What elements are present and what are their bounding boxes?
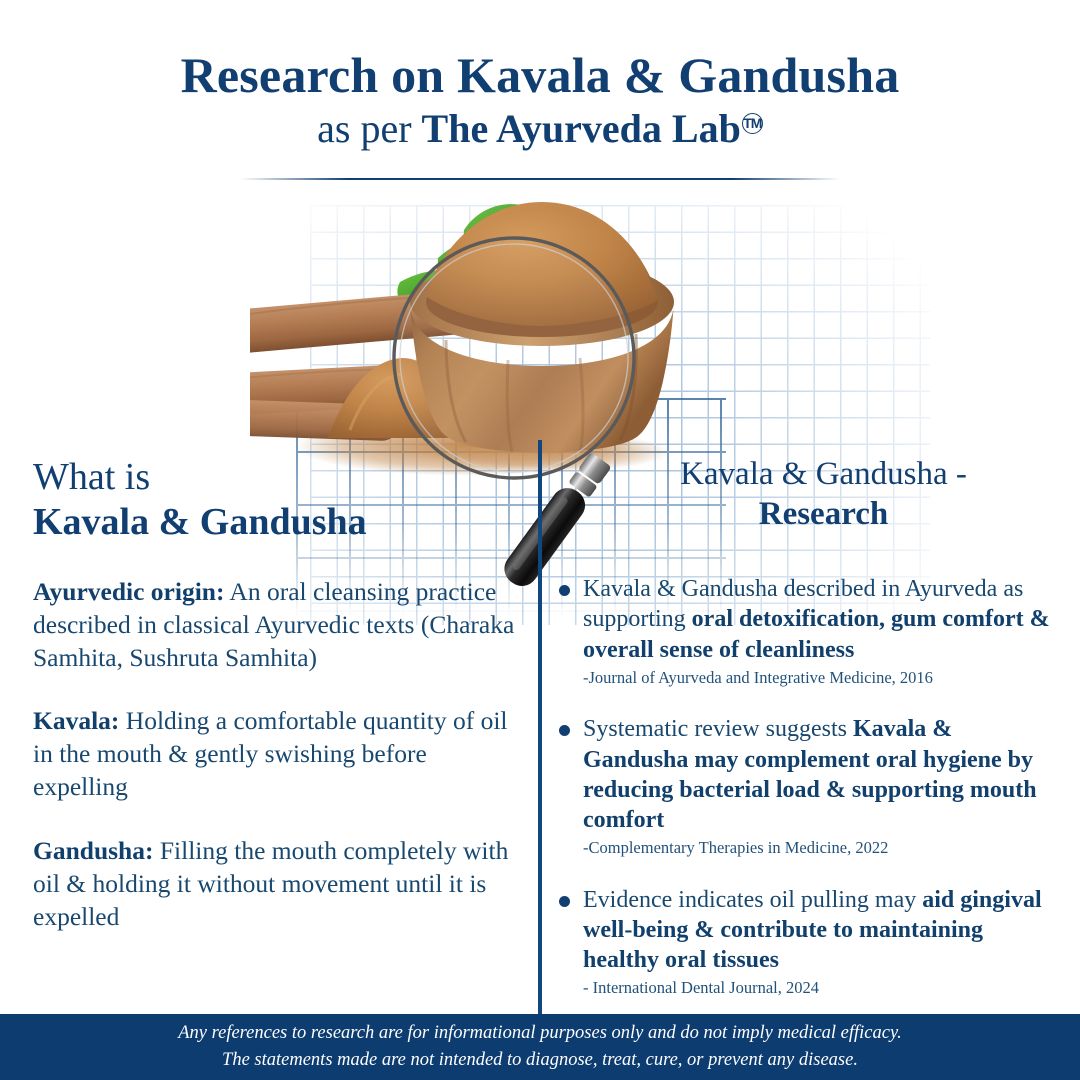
list-item: Systematic review suggests Kavala & Gand… bbox=[557, 714, 1062, 858]
header-divider bbox=[240, 178, 840, 180]
left-column: What is Kavala & Gandusha Ayurvedic orig… bbox=[33, 455, 523, 933]
paragraph-lead-label: Kavala: bbox=[33, 706, 119, 735]
paragraph-lead-label: Ayurvedic origin: bbox=[33, 577, 224, 606]
definition-paragraph-kavala: Kavala: Holding a comfortable quantity o… bbox=[33, 704, 523, 803]
definition-paragraph-ayurvedic-origin: Ayurvedic origin: An oral cleansing prac… bbox=[33, 575, 523, 674]
list-item: Evidence indicates oil pulling may aid g… bbox=[557, 885, 1062, 999]
bullet-dot-icon bbox=[559, 725, 570, 736]
brand-name: The Ayurveda Lab bbox=[422, 106, 741, 151]
bullet-text: Evidence indicates oil pulling may aid g… bbox=[583, 885, 1062, 976]
disclaimer-line-1: Any references to research are for infor… bbox=[178, 1020, 902, 1047]
paragraph-lead-label: Gandusha: bbox=[33, 836, 153, 865]
bullet-dot-icon bbox=[559, 585, 570, 596]
bullet-text: Systematic review suggests Kavala & Gand… bbox=[583, 714, 1062, 835]
bullet-text-plain: Evidence indicates oil pulling may bbox=[583, 887, 922, 913]
right-heading-line2: Research bbox=[585, 495, 1062, 535]
bullet-citation: -Complementary Therapies in Medicine, 20… bbox=[583, 837, 1062, 858]
page-subtitle: as per The Ayurveda LabTM bbox=[0, 106, 1080, 152]
disclaimer-line-2: The statements made are not intended to … bbox=[222, 1047, 858, 1074]
list-item: Kavala & Gandusha described in Ayurveda … bbox=[557, 574, 1062, 688]
left-heading-line2: Kavala & Gandusha bbox=[33, 501, 367, 543]
bullet-text-plain: Systematic review suggests bbox=[583, 716, 853, 742]
left-column-heading: What is Kavala & Gandusha bbox=[33, 455, 523, 545]
bullet-citation: -Journal of Ayurveda and Integrative Med… bbox=[583, 667, 1062, 688]
page-header: Research on Kavala & Gandusha as per The… bbox=[0, 48, 1080, 152]
right-column: Kavala & Gandusha - Research Kavala & Ga… bbox=[557, 455, 1062, 1025]
right-column-heading: Kavala & Gandusha - Research bbox=[557, 455, 1062, 534]
research-bullet-list: Kavala & Gandusha described in Ayurveda … bbox=[557, 574, 1062, 999]
disclaimer-footer: Any references to research are for infor… bbox=[0, 1014, 1080, 1080]
bullet-text: Kavala & Gandusha described in Ayurveda … bbox=[583, 574, 1062, 665]
right-heading-line1: Kavala & Gandusha - bbox=[680, 456, 967, 492]
left-heading-line1: What is bbox=[33, 456, 150, 498]
subtitle-as-per: as per bbox=[317, 106, 421, 151]
page-title: Research on Kavala & Gandusha bbox=[0, 48, 1080, 102]
definition-paragraph-gandusha: Gandusha: Filling the mouth completely w… bbox=[33, 834, 523, 933]
column-divider bbox=[538, 440, 542, 1015]
bullet-citation: - International Dental Journal, 2024 bbox=[583, 977, 1062, 998]
trademark-icon: TM bbox=[742, 113, 763, 134]
bullet-dot-icon bbox=[559, 896, 570, 907]
infographic-page: Research on Kavala & Gandusha as per The… bbox=[0, 0, 1080, 1080]
